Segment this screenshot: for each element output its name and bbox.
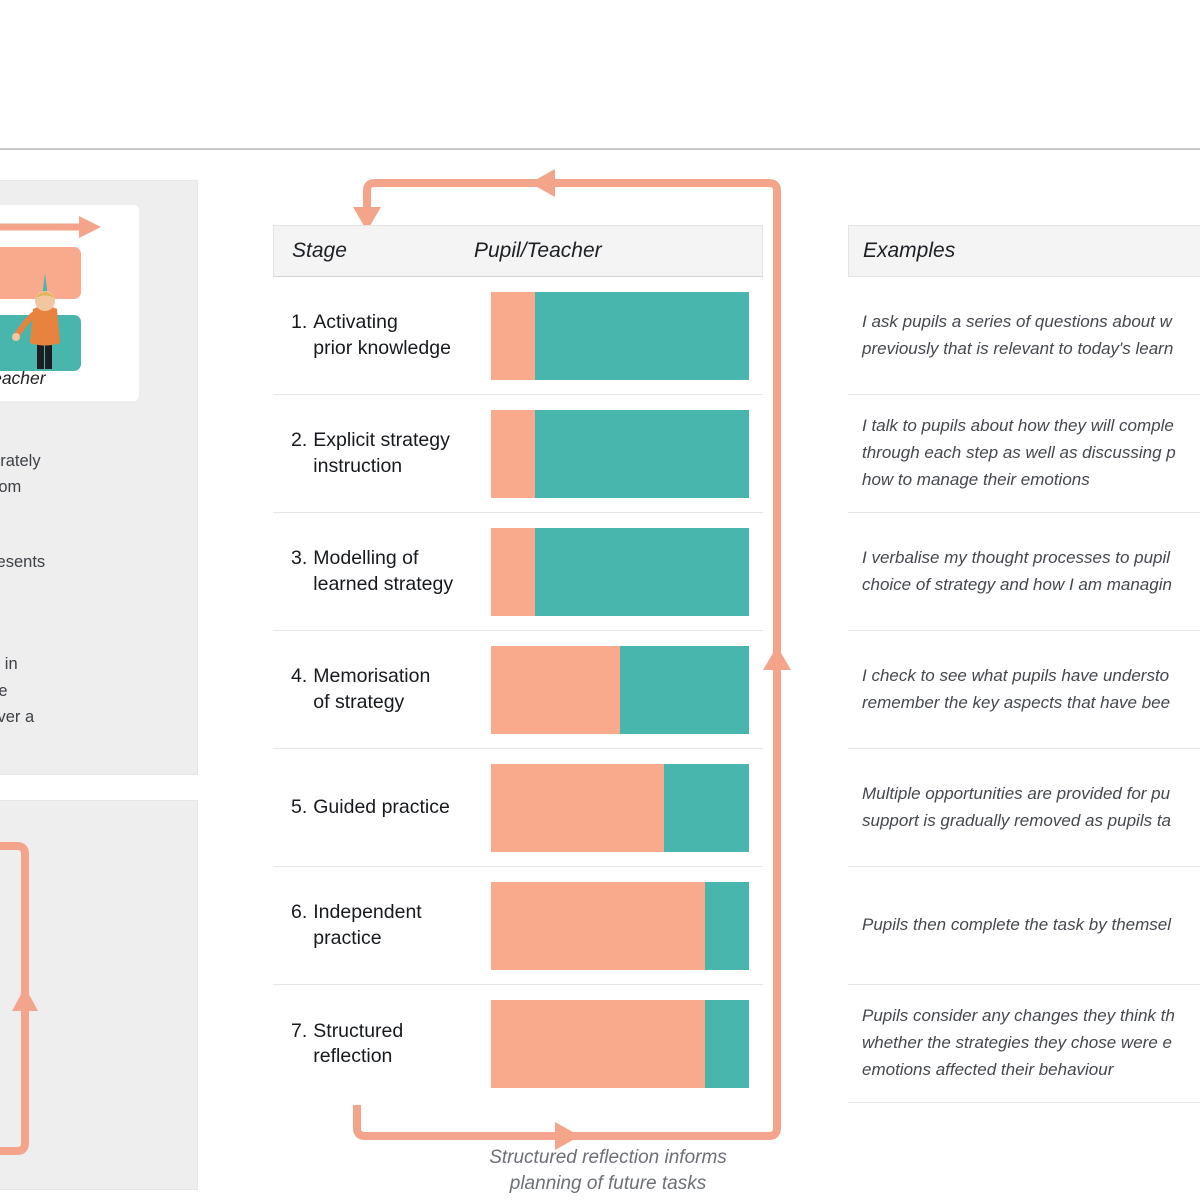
stage-number: 6. bbox=[291, 900, 307, 951]
table-row: 2.Explicit strategy instruction bbox=[273, 395, 763, 513]
stacked-bar bbox=[491, 528, 749, 616]
example-text: Pupils consider any changes they think t… bbox=[862, 1003, 1175, 1084]
cycle-label-2: hen bbox=[0, 1089, 120, 1115]
table-row: 4.Memorisation of strategy bbox=[273, 631, 763, 749]
bar-segment-pupil bbox=[491, 1000, 705, 1088]
stage-label: 1.Activating prior knowledge bbox=[273, 310, 491, 361]
stage-table: Stage Pupil/Teacher 1.Activating prior k… bbox=[273, 225, 763, 1103]
sidebar-panel-cycle: m hen bbox=[0, 800, 198, 1190]
bar-segment-teacher bbox=[705, 882, 749, 970]
example-row: I verbalise my thought processes to pupi… bbox=[848, 513, 1200, 631]
stacked-bar bbox=[491, 764, 749, 852]
stage-name: Independent practice bbox=[313, 900, 421, 951]
stacked-bar bbox=[491, 1000, 749, 1088]
example-row: Pupils then complete the task by themsel bbox=[848, 867, 1200, 985]
sidebar-paragraph-2: e bar represents uoise part r input. bbox=[0, 549, 175, 629]
examples-body: I ask pupils a series of questions about… bbox=[848, 277, 1200, 1103]
bar-cell bbox=[491, 292, 763, 380]
stage-number: 5. bbox=[291, 795, 307, 820]
header: d el bbox=[0, 8, 528, 113]
example-text: I check to see what pupils have understo… bbox=[862, 663, 1170, 717]
column-header-pupil-teacher: Pupil/Teacher bbox=[474, 239, 602, 263]
example-text: I talk to pupils about how they will com… bbox=[862, 413, 1176, 494]
stacked-bar bbox=[491, 410, 749, 498]
illustration-card: Teacher bbox=[0, 205, 139, 401]
table-row: 3.Modelling of learned strategy bbox=[273, 513, 763, 631]
bar-cell bbox=[491, 882, 763, 970]
stage-table-body: 1.Activating prior knowledge2.Explicit s… bbox=[273, 277, 763, 1103]
bar-cell bbox=[491, 410, 763, 498]
stage-label: 7.Structured reflection bbox=[273, 1019, 491, 1070]
bar-segment-teacher bbox=[705, 1000, 749, 1088]
stage-number: 2. bbox=[291, 428, 307, 479]
example-text: Multiple opportunities are provided for … bbox=[862, 781, 1171, 835]
stage-number: 7. bbox=[291, 1019, 307, 1070]
table-row: 7.Structured reflection bbox=[273, 985, 763, 1103]
stage-number: 3. bbox=[291, 546, 307, 597]
bar-segment-teacher bbox=[535, 410, 749, 498]
bar-segment-teacher bbox=[620, 646, 749, 734]
table-row: 1.Activating prior knowledge bbox=[273, 277, 763, 395]
example-row: Pupils consider any changes they think t… bbox=[848, 985, 1200, 1103]
header-divider bbox=[0, 148, 1200, 150]
stage-number: 4. bbox=[291, 664, 307, 715]
stage-label: 4.Memorisation of strategy bbox=[273, 664, 491, 715]
cycle-flow-diagram bbox=[0, 801, 199, 1191]
stage-label: 5.Guided practice bbox=[273, 795, 491, 820]
bar-cell bbox=[491, 764, 763, 852]
stage-name: Guided practice bbox=[313, 795, 450, 820]
stacked-bar bbox=[491, 882, 749, 970]
stage-name: Explicit strategy instruction bbox=[313, 428, 450, 479]
stage-name: Structured reflection bbox=[313, 1019, 403, 1070]
bar-cell bbox=[491, 1000, 763, 1088]
sidebar-panel-overview: Teacher el is a k to deliberately learni… bbox=[0, 180, 198, 775]
example-text: Pupils then complete the task by themsel bbox=[862, 912, 1171, 939]
example-row: I check to see what pupils have understo… bbox=[848, 631, 1200, 749]
bar-segment-pupil bbox=[491, 764, 664, 852]
bottom-caption: Structured reflection informs planning o… bbox=[443, 1145, 773, 1196]
sidebar-paragraph-1: el is a k to deliberately learning from … bbox=[0, 421, 175, 528]
example-row: Multiple opportunities are provided for … bbox=[848, 749, 1200, 867]
stage-name: Memorisation of strategy bbox=[313, 664, 430, 715]
example-text: I verbalise my thought processes to pupi… bbox=[862, 545, 1172, 599]
stacked-bar bbox=[491, 646, 749, 734]
bar-segment-pupil bbox=[491, 882, 705, 970]
bar-segment-pupil bbox=[491, 292, 535, 380]
example-row: I talk to pupils about how they will com… bbox=[848, 395, 1200, 513]
bar-cell bbox=[491, 528, 763, 616]
column-header-stage: Stage bbox=[274, 239, 474, 263]
stage-label: 6.Independent practice bbox=[273, 900, 491, 951]
stage-table-header-row: Stage Pupil/Teacher bbox=[273, 225, 763, 277]
stage-label: 3.Modelling of learned strategy bbox=[273, 546, 491, 597]
cycle-label-1: m bbox=[0, 969, 120, 995]
legend-label-teacher: Teacher bbox=[0, 368, 46, 389]
bar-cell bbox=[491, 646, 763, 734]
examples-panel: Examples I ask pupils a series of questi… bbox=[848, 225, 1200, 1103]
page-title: d el bbox=[0, 8, 528, 113]
stage-name: Modelling of learned strategy bbox=[313, 546, 453, 597]
bar-segment-teacher bbox=[535, 292, 749, 380]
bar-segment-teacher bbox=[535, 528, 749, 616]
column-header-examples: Examples bbox=[863, 239, 955, 263]
sidebar-paragraph-3: take place in ay be more to occur over a bbox=[0, 651, 175, 731]
bar-segment-pupil bbox=[491, 646, 620, 734]
stacked-bar bbox=[491, 292, 749, 380]
stage-name: Activating prior knowledge bbox=[313, 310, 451, 361]
page-root: d el bbox=[0, 0, 1200, 1200]
bar-segment-pupil bbox=[491, 410, 535, 498]
examples-header-row: Examples bbox=[848, 225, 1200, 277]
stage-number: 1. bbox=[291, 310, 307, 361]
stage-label: 2.Explicit strategy instruction bbox=[273, 428, 491, 479]
table-row: 6.Independent practice bbox=[273, 867, 763, 985]
example-row: I ask pupils a series of questions about… bbox=[848, 277, 1200, 395]
table-row: 5.Guided practice bbox=[273, 749, 763, 867]
example-text: I ask pupils a series of questions about… bbox=[862, 309, 1173, 363]
bar-segment-pupil bbox=[491, 528, 535, 616]
bar-segment-teacher bbox=[664, 764, 749, 852]
